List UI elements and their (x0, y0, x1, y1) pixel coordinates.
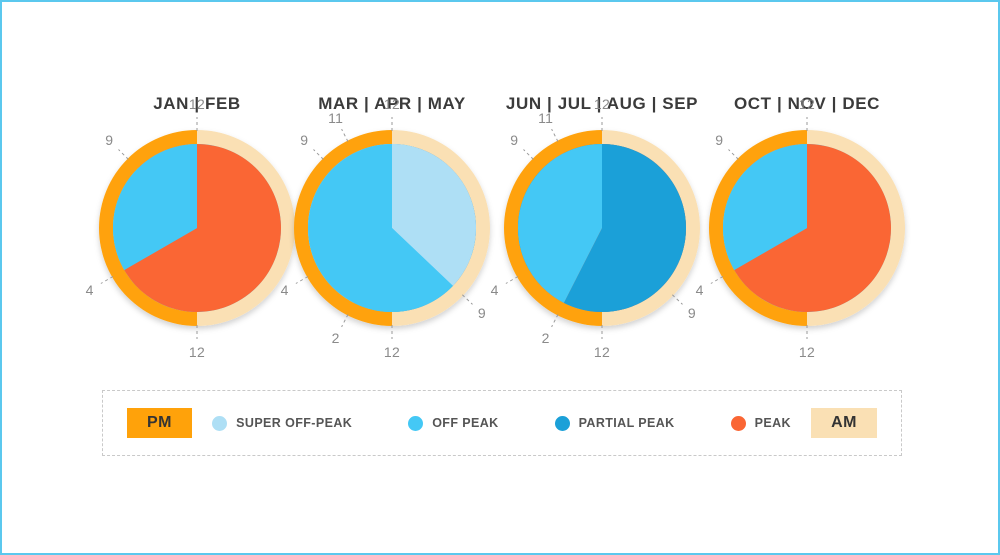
page-root: JAN | FEB129412MAR | APR | MAY1211942129… (0, 0, 1000, 555)
clock-pie (723, 144, 891, 312)
tick-label: 12 (384, 96, 400, 112)
tick-mark (119, 150, 129, 160)
legend-swatch-icon (731, 416, 746, 431)
tick-label: 4 (696, 282, 704, 298)
clock-pie (113, 144, 281, 312)
tick-mark (506, 277, 518, 284)
legend-item-label: OFF PEAK (432, 416, 498, 430)
legend-swatch-icon (555, 416, 570, 431)
tick-label: 12 (189, 96, 205, 112)
tick-mark (729, 150, 739, 160)
tick-mark (101, 277, 113, 284)
tick-label: 12 (384, 344, 400, 360)
tick-mark (524, 150, 534, 160)
tick-mark (711, 277, 723, 284)
clock-pie (308, 144, 476, 312)
legend-swatch-icon (212, 416, 227, 431)
legend-item-peak: PEAK (731, 416, 791, 431)
tick-mark (552, 129, 558, 141)
tick-label: 12 (799, 344, 815, 360)
tick-label: 2 (542, 330, 550, 346)
tick-label: 9 (510, 132, 518, 148)
tick-mark (552, 314, 558, 326)
tick-label: 4 (281, 282, 289, 298)
tick-label: 12 (594, 344, 610, 360)
tick-label: 9 (715, 132, 723, 148)
legend-item-off-peak: OFF PEAK (408, 416, 498, 431)
legend-item-partial-peak: PARTIAL PEAK (555, 416, 675, 431)
clock-dial: 129412 (709, 130, 905, 326)
tick-label: 4 (491, 282, 499, 298)
legend-item-label: PARTIAL PEAK (579, 416, 675, 430)
tick-label: 12 (594, 96, 610, 112)
clock-pie (518, 144, 686, 312)
clock-dial: 129412 (99, 130, 295, 326)
tick-mark (462, 295, 472, 305)
tick-label: 2 (332, 330, 340, 346)
legend-inner: PM SUPER OFF-PEAKOFF PEAKPARTIAL PEAKPEA… (103, 408, 901, 438)
tick-label: 12 (189, 344, 205, 360)
clock-dial: 1211942129 (504, 130, 700, 326)
tick-mark (342, 314, 348, 326)
tick-mark (314, 150, 324, 160)
legend-item-label: PEAK (755, 416, 791, 430)
legend-item-label: SUPER OFF-PEAK (236, 416, 352, 430)
tick-label: 11 (538, 110, 553, 126)
tick-mark (672, 295, 682, 305)
legend: PM SUPER OFF-PEAKOFF PEAKPARTIAL PEAKPEA… (102, 390, 902, 456)
legend-pm-badge: PM (127, 408, 192, 438)
legend-am-badge: AM (811, 408, 877, 438)
tick-label: 12 (799, 96, 815, 112)
legend-items: SUPER OFF-PEAKOFF PEAKPARTIAL PEAKPEAK (212, 416, 791, 431)
clock-chart-row: JAN | FEB129412MAR | APR | MAY1211942129… (2, 94, 1000, 379)
tick-label: 9 (300, 132, 308, 148)
tick-label: 11 (328, 110, 343, 126)
tick-mark (296, 277, 308, 284)
tick-mark (342, 129, 348, 141)
legend-item-super-off-peak: SUPER OFF-PEAK (212, 416, 352, 431)
tick-label: 9 (105, 132, 113, 148)
tick-label: 4 (86, 282, 94, 298)
clock-dial: 1211942129 (294, 130, 490, 326)
clock-4: OCT | NOV | DEC129412 (682, 94, 932, 379)
legend-swatch-icon (408, 416, 423, 431)
